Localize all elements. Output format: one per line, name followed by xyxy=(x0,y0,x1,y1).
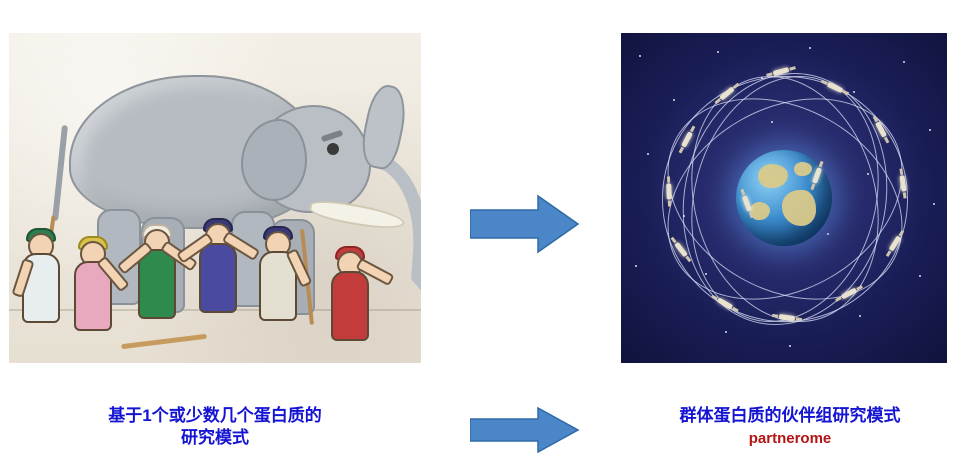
blind-man-figure xyxy=(19,233,63,325)
continent-shape xyxy=(758,164,788,188)
figure-body xyxy=(331,271,369,341)
caption-left: 基于1个或少数几个蛋白质的 研究模式 xyxy=(40,405,390,449)
blind-man-figure xyxy=(71,241,115,327)
blind-man-figure xyxy=(327,251,373,333)
caption-right-line2: partnerome xyxy=(640,429,940,448)
blind-man-figure xyxy=(255,231,301,327)
figure-body xyxy=(138,249,176,319)
caption-right: 群体蛋白质的伙伴组研究模式 partnerome xyxy=(640,405,940,448)
caption-left-line1: 基于1个或少数几个蛋白质的 xyxy=(108,406,321,425)
blind-man-figure xyxy=(135,229,179,323)
continent-shape xyxy=(750,202,770,220)
arrow-bottom xyxy=(470,406,580,454)
satellite xyxy=(666,183,672,199)
continent-shape xyxy=(782,190,816,226)
earth-globe xyxy=(736,150,832,246)
arrow-top xyxy=(470,193,580,255)
continent-shape xyxy=(794,162,812,176)
caption-left-line2: 研究模式 xyxy=(181,428,249,447)
blind-man-figure xyxy=(195,223,241,323)
blind-men-and-the-elephant-illustration xyxy=(9,33,421,363)
caption-right-line1: 群体蛋白质的伙伴组研究模式 xyxy=(680,406,901,425)
earth-with-orbiting-satellites-illustration xyxy=(621,33,947,363)
elephant-eye xyxy=(327,143,339,155)
figure-body xyxy=(199,243,237,313)
